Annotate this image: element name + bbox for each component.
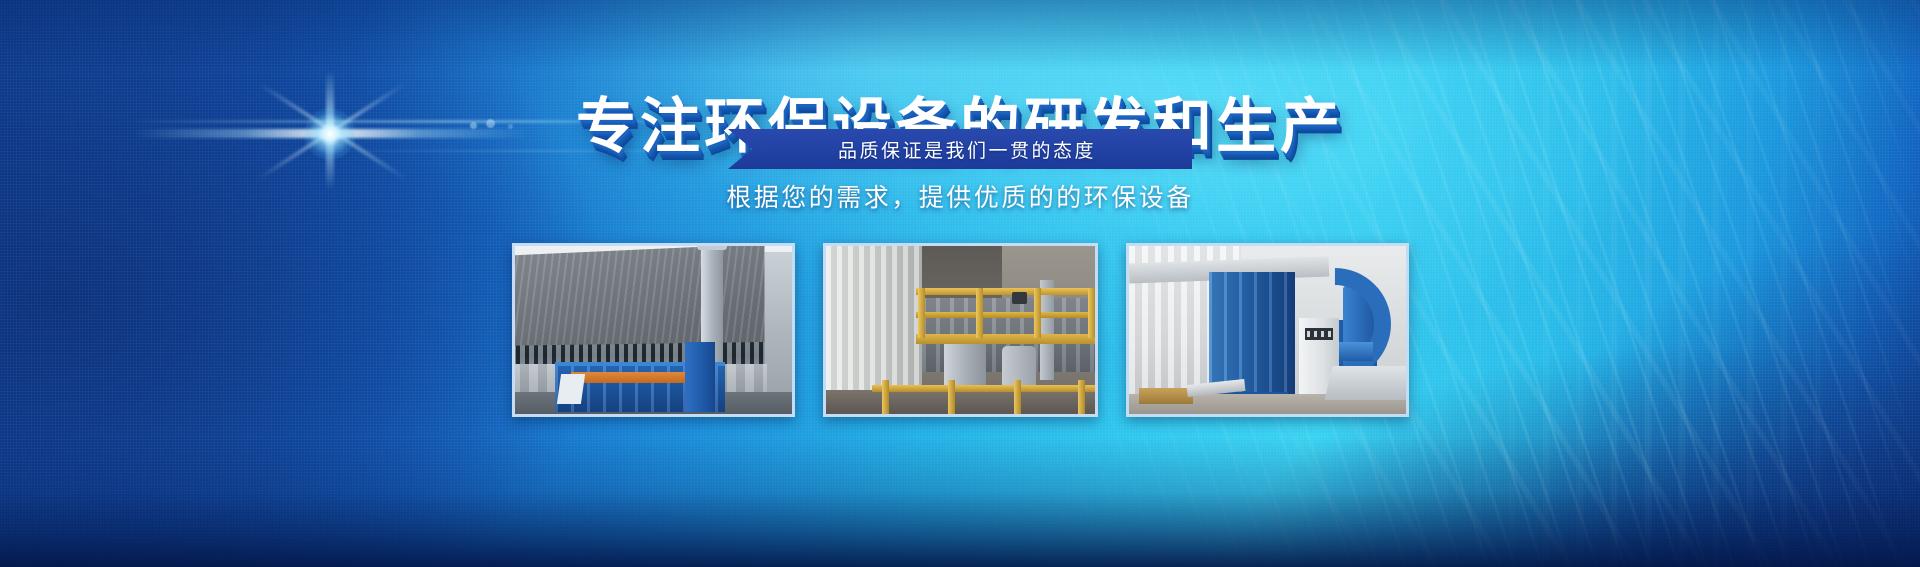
quality-ribbon: 品质保证是我们一贯的态度	[728, 129, 1192, 169]
photo-image-dust-collector	[1129, 246, 1406, 414]
ribbon-wrapper: 品质保证是我们一贯的态度	[0, 129, 1920, 169]
photo-gallery	[0, 243, 1920, 417]
photo-card-plant-interior[interactable]	[823, 243, 1098, 417]
photo-card-dust-collector[interactable]	[1126, 243, 1409, 417]
photo-card-workshop-exterior[interactable]	[512, 243, 795, 417]
ribbon-label: 品质保证是我们一贯的态度	[838, 136, 1096, 163]
hero-banner: 专注环保设备的研发和生产 品质保证是我们一贯的态度 根据您的需求，提供优质的的环…	[0, 0, 1920, 567]
photo-image-plant-interior	[826, 246, 1095, 414]
photo-image-workshop-exterior	[515, 246, 792, 414]
banner-content: 专注环保设备的研发和生产 品质保证是我们一贯的态度 根据您的需求，提供优质的的环…	[0, 0, 1920, 567]
banner-subtitle: 根据您的需求，提供优质的的环保设备	[0, 178, 1920, 214]
